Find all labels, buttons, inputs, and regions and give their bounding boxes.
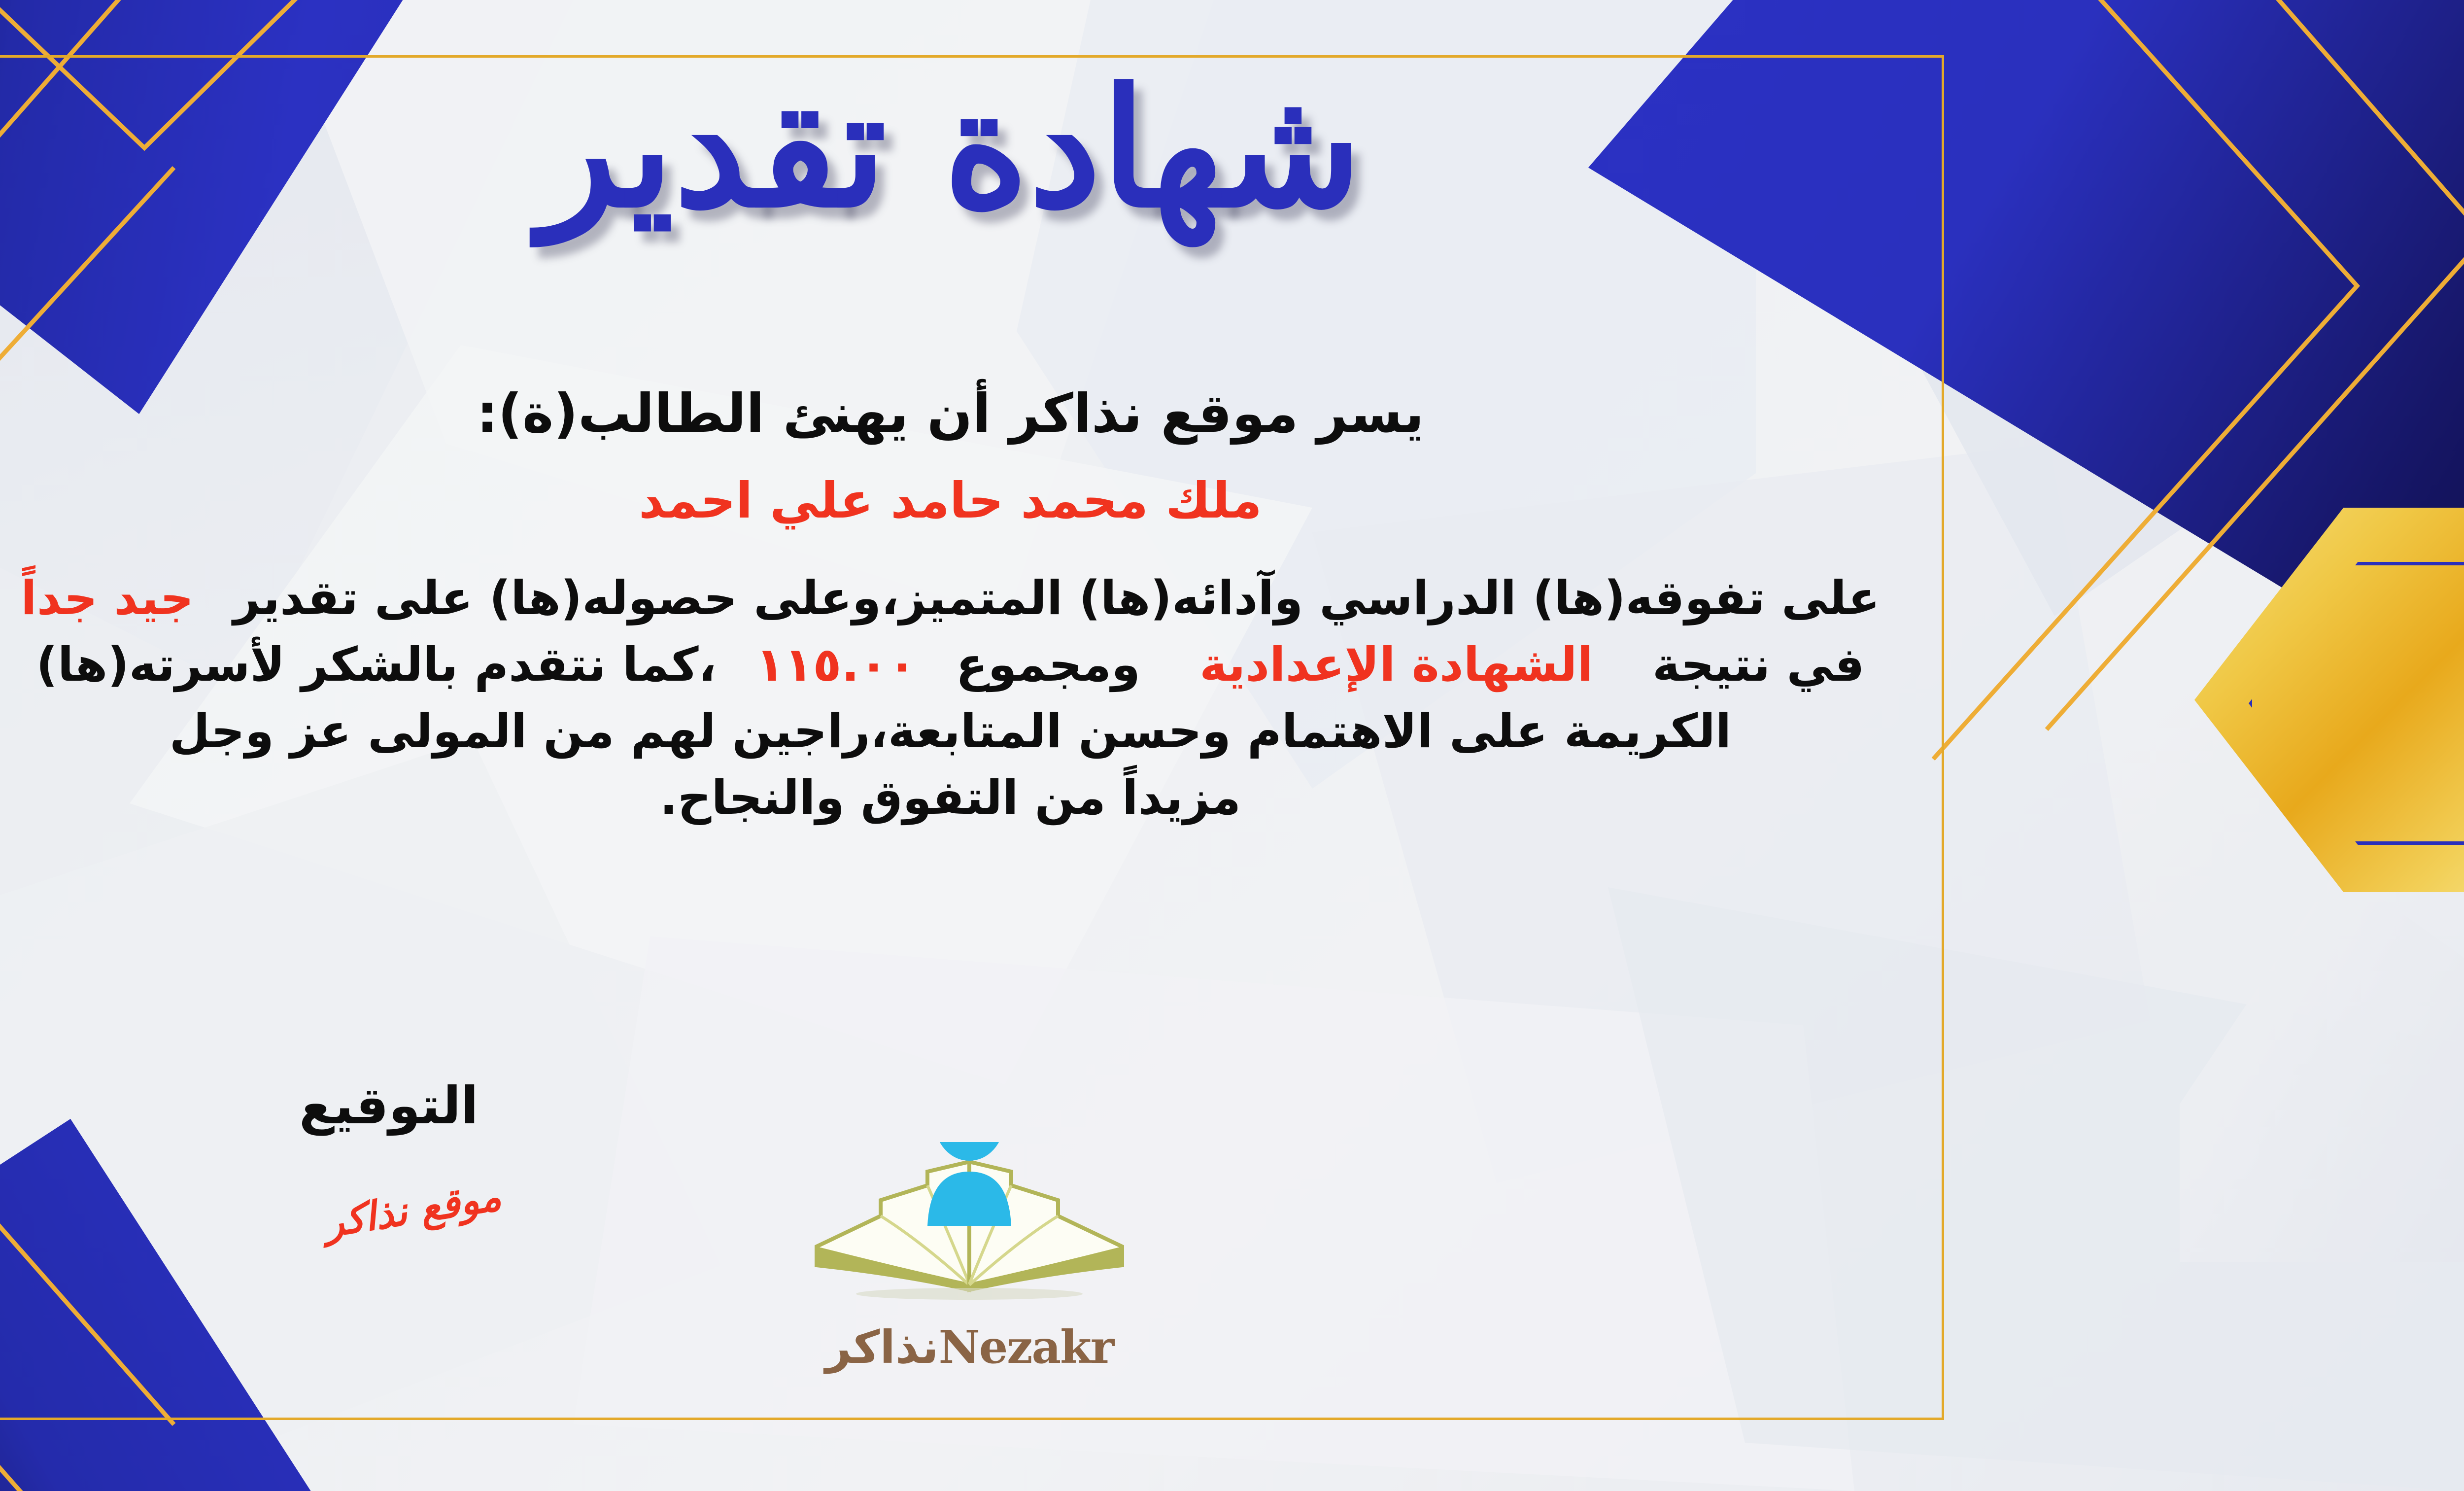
grade-value: جيد جداً: [21, 571, 194, 625]
signature-handwriting: موقع نذاكر: [297, 1169, 528, 1250]
exam-name: الشهادة الإعدادية: [1199, 638, 1593, 692]
greeting-line: يسر موقع نذاكر أن يهنئ الطالب(ة):: [0, 383, 1942, 445]
thanks-text: ،كما نتقدم بالشكر لأسرته(ها): [36, 638, 716, 692]
brand-logo: Nezakrنذاكر: [797, 1058, 1142, 1374]
exam-result-prefix: في نتيجة: [1652, 638, 1865, 692]
body-line-4: مزيداً من التفوق والنجاح.: [0, 765, 1927, 832]
total-label: ومجموع: [956, 638, 1140, 692]
brand-name-latin: Nezakr: [939, 1320, 1114, 1374]
certificate-title: شهادة تقدير: [0, 63, 1942, 234]
body-line-1: على تفوقه(ها) الدراسي وآدائه(ها) المتميز…: [0, 565, 1927, 632]
frame-border-bottom: [0, 1418, 1943, 1420]
brand-name-arabic: نذاكر: [825, 1321, 939, 1374]
certificate-body: على تفوقه(ها) الدراسي وآدائه(ها) المتميز…: [0, 565, 1927, 832]
student-name: ملك محمد حامد علي احمد: [0, 472, 1942, 529]
total-score: ١١٥.٠٠: [756, 638, 917, 692]
body-line-2: في نتيجةالشهادة الإعداديةومجموع١١٥.٠٠،كم…: [0, 632, 1927, 698]
frame-border-right: [1942, 55, 1944, 1420]
open-book-graduate-icon: [807, 1142, 1132, 1300]
signature-label: التوقيع: [299, 1075, 479, 1136]
body-line-3: الكريمة على الاهتمام وحسن المتابعة،راجين…: [0, 698, 1927, 765]
certificate-content: شهادة تقدير يسر موقع نذاكر أن يهنئ الطال…: [0, 58, 1942, 1418]
body-line-1-text: على تفوقه(ها) الدراسي وآدائه(ها) المتميز…: [233, 571, 1880, 625]
brand-name: Nezakrنذاكر: [797, 1320, 1142, 1374]
certificate-document: شهادة تقدير يسر موقع نذاكر أن يهنئ الطال…: [0, 0, 2464, 1491]
